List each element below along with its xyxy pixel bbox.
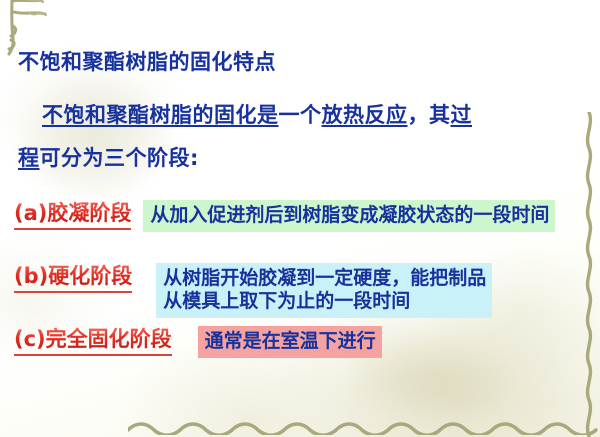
stage-label-b: (b)硬化阶段: [14, 263, 132, 293]
stage-description-a: 从加入促进剂后到树脂变成凝胶状态的一段时间: [143, 200, 555, 232]
stage-description-c: 通常是在室温下进行: [198, 326, 382, 358]
intro-paragraph-line-1: 不饱和聚酯树脂的固化是一个放热反应，其过: [18, 100, 472, 130]
background-watermark-b: [20, 75, 170, 205]
presentation-slide: 不饱和聚酯树脂的固化特点 不饱和聚酯树脂的固化是一个放热反应，其过 程可分为三个…: [0, 0, 600, 437]
stage-row-full-cure: (c)完全固化阶段 通常是在室温下进行: [14, 326, 382, 358]
intro-underlined-segment-2: 放热反应: [322, 103, 408, 127]
intro-plain-segment-3: 可分为三个阶段:: [40, 146, 199, 170]
intro-plain-segment-2: ，其: [408, 103, 451, 127]
intro-underlined-segment-4: 程: [18, 146, 40, 170]
stage-label-c: (c)完全固化阶段: [14, 326, 172, 356]
stage-label-a: (a)胶凝阶段: [14, 200, 131, 230]
intro-paragraph-line-2: 程可分为三个阶段:: [18, 143, 199, 173]
wavy-rule-icon: [128, 421, 600, 435]
page-title: 不饱和聚酯树脂的固化特点: [18, 48, 276, 76]
intro-plain-segment-1: 一个: [279, 103, 322, 127]
stage-row-hardening: (b)硬化阶段 从树脂开始胶凝到一定硬度，能把制品 从模具上取下为止的一段时间: [14, 263, 492, 318]
background-watermark-a: [355, 330, 555, 437]
bamboo-vertical-icon: [578, 112, 600, 437]
intro-underlined-segment-1: 不饱和聚酯树脂的固化是: [42, 103, 279, 127]
stage-row-gelation: (a)胶凝阶段 从加入促进剂后到树脂变成凝胶状态的一段时间: [14, 200, 555, 232]
stage-description-b: 从树脂开始胶凝到一定硬度，能把制品 从模具上取下为止的一段时间: [156, 263, 492, 318]
intro-underlined-segment-3: 过: [451, 103, 473, 127]
